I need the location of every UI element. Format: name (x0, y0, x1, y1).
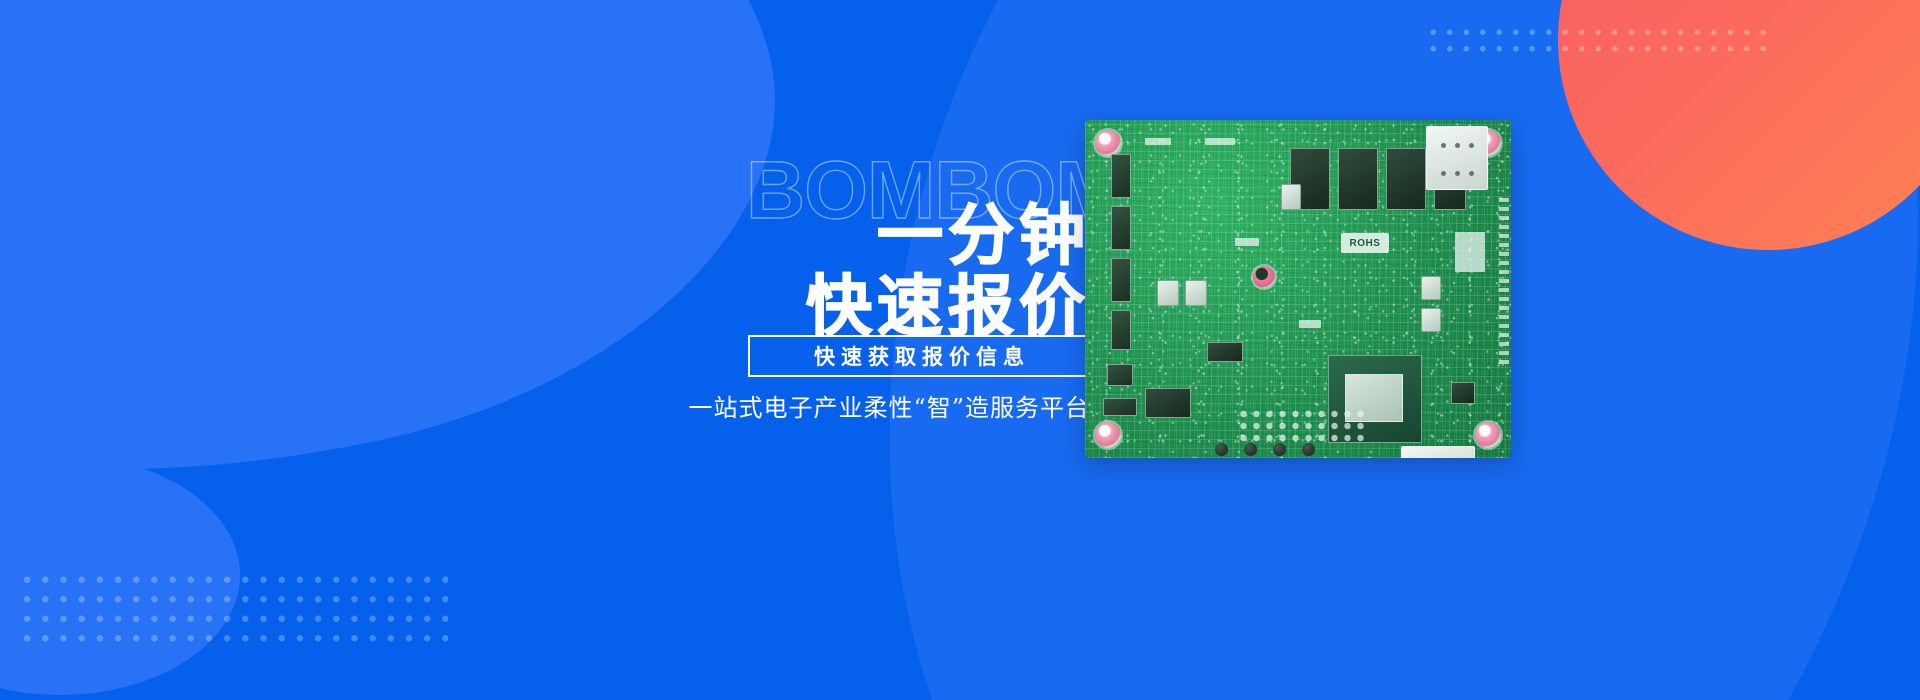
pcb-ball-grid (1237, 408, 1367, 442)
pcb-mounting-hole (1095, 422, 1121, 448)
pcb-ic-chip (1451, 382, 1475, 404)
pcb-ic-chip (1338, 148, 1378, 210)
banner-tagline: 一站式电子产业柔性“智”造服务平台 (685, 388, 1090, 423)
pcb-ic-chip (1111, 258, 1131, 302)
pcb-inductor (1185, 280, 1207, 306)
pcb-pad (1235, 238, 1259, 246)
pcb-center-hole (1253, 266, 1275, 288)
headline-line-1: 一分钟 (746, 202, 1090, 269)
pcb-ic-chip (1103, 398, 1137, 416)
pcb-pad (1205, 138, 1235, 145)
pcb-pad (1299, 320, 1321, 328)
pcb-inductor (1281, 184, 1301, 210)
pcb-inductor (1421, 276, 1441, 300)
cta-button[interactable]: 快速获取报价信息 (748, 335, 1090, 377)
pcb-sim-slot (1426, 126, 1488, 190)
pcb-mounting-hole (1475, 422, 1501, 448)
cta-button-label: 快速获取报价信息 (808, 341, 1030, 371)
pcb-bottom-connector (1401, 446, 1475, 458)
promo-banner: BOMBOM 一分钟 快速报价 快速获取报价信息 一站式电子产业柔性“智”造服务… (0, 0, 1920, 700)
banner-headline: 一分钟 快速报价 (746, 202, 1090, 341)
pcb-inductor (1157, 280, 1179, 306)
pcb-ic-chip (1386, 148, 1426, 210)
pcb-pad (1455, 232, 1485, 272)
pcb-pad (1145, 138, 1171, 145)
banner-copy-block: BOMBOM 一分钟 快速报价 快速获取报价信息 一站式电子产业柔性“智”造服务… (690, 150, 1090, 430)
headline-line-2: 快速报价 (746, 273, 1090, 340)
pcb-ic-chip (1111, 310, 1131, 350)
pcb-ic-chip (1107, 364, 1133, 386)
pcb-connector-row (1215, 443, 1315, 456)
pcb-ic-chip (1145, 388, 1191, 418)
circuit-board-image: ROHS (1085, 120, 1511, 458)
pcb-ic-chip (1111, 154, 1131, 198)
pcb-mounting-hole (1095, 130, 1121, 156)
dot-grid-top-right (1425, 24, 1770, 56)
dot-grid-bottom-left (18, 570, 448, 650)
pcb-ic-chip (1111, 206, 1131, 250)
rohs-marking: ROHS (1341, 233, 1389, 253)
pcb-ic-chip (1207, 342, 1243, 362)
pcb-inductor (1421, 308, 1441, 332)
pcb-edge-pins (1499, 194, 1509, 364)
